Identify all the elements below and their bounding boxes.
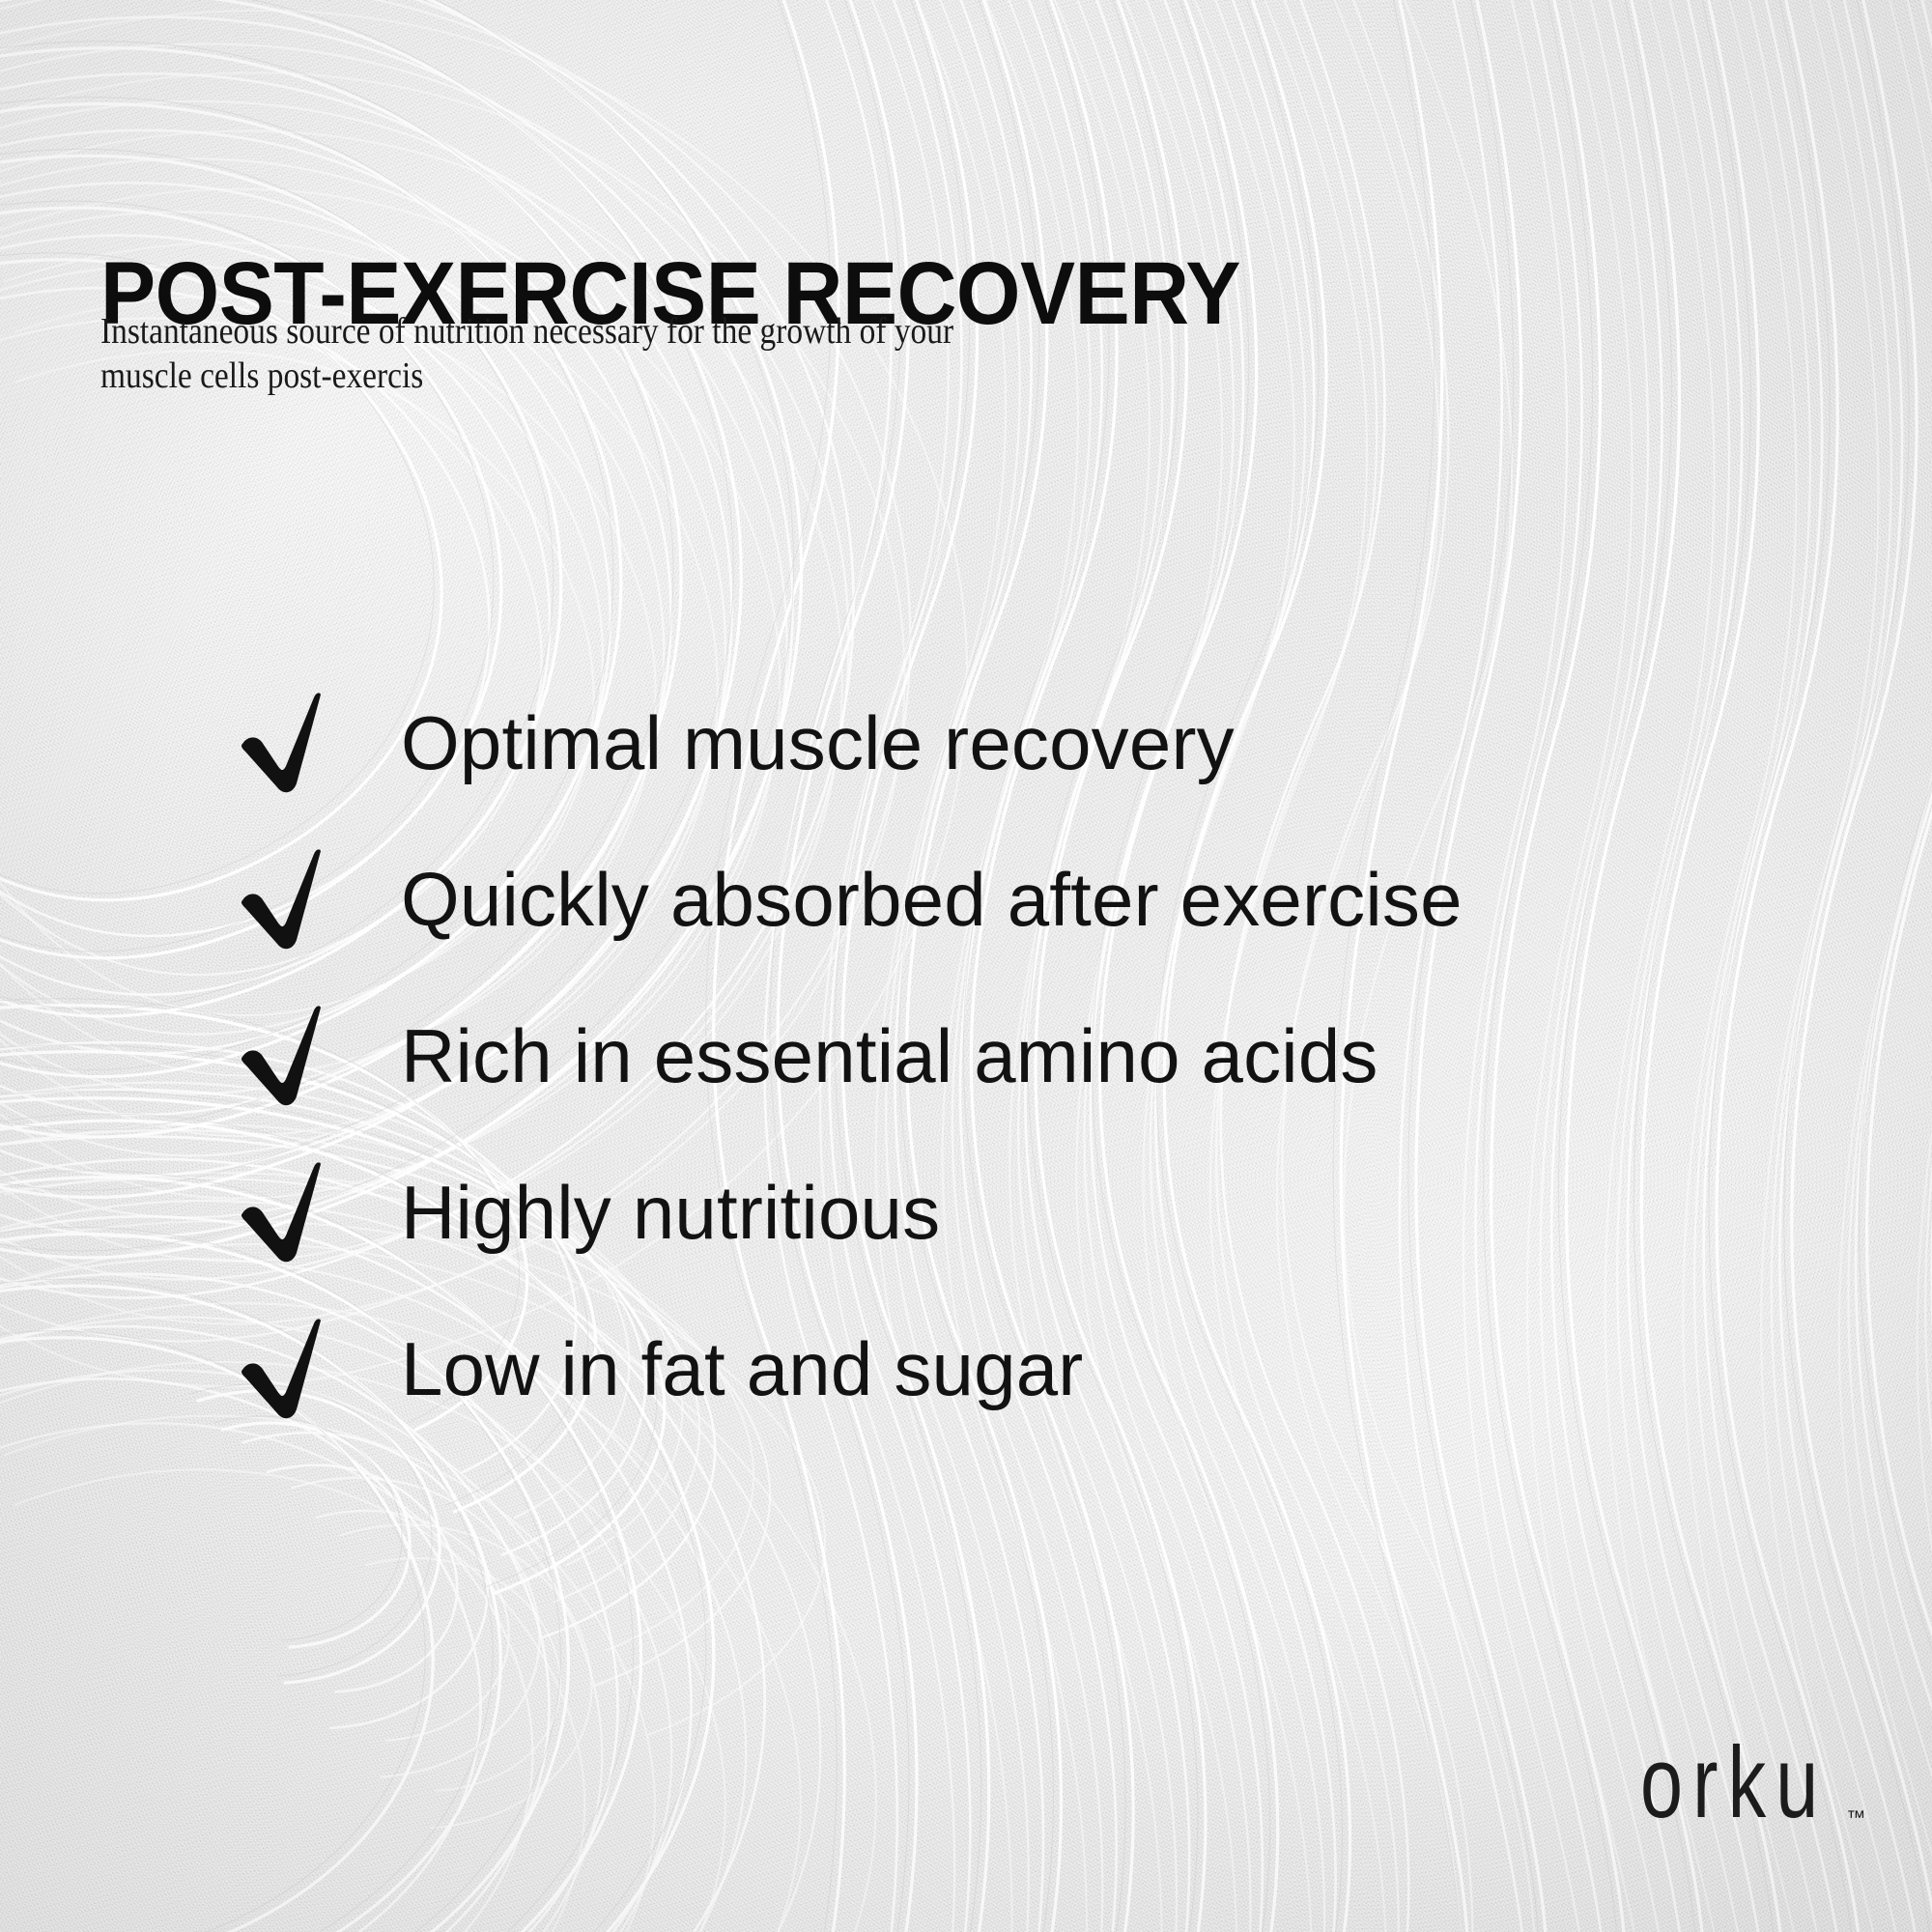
list-item: Highly nutritious: [0, 1157, 1932, 1314]
brand-logo-wordmark: orku: [1640, 1732, 1828, 1833]
list-item-label: Highly nutritious: [401, 1155, 940, 1269]
list-item: Rich in essential amino acids: [0, 1001, 1932, 1157]
check-mark-icon: [235, 1157, 324, 1273]
check-mark-icon: [235, 1314, 324, 1430]
check-mark-icon: [235, 1001, 324, 1117]
brand-logo: orku ™: [1640, 1750, 1865, 1833]
list-item: Low in fat and sugar: [0, 1314, 1932, 1470]
benefits-list: Optimal muscle recovery Quickly absorbed…: [0, 688, 1932, 1470]
page-subtitle-line-2: muscle cells post-exercis: [100, 354, 1103, 398]
list-item-label: Low in fat and sugar: [401, 1312, 1083, 1426]
list-item: Quickly absorbed after exercise: [0, 844, 1932, 1001]
check-mark-icon: [235, 844, 324, 960]
page-subtitle-line-1: Instantaneous source of nutrition necess…: [100, 309, 1103, 354]
list-item-label: Optimal muscle recovery: [401, 686, 1235, 800]
trademark-symbol: ™: [1846, 1808, 1865, 1828]
poster-content: POST-EXERCISE RECOVERY Instantaneous sou…: [0, 0, 1932, 1932]
check-mark-icon: [235, 688, 324, 804]
list-item-label: Rich in essential amino acids: [401, 999, 1378, 1113]
list-item: Optimal muscle recovery: [0, 688, 1932, 844]
page-subtitle: Instantaneous source of nutrition necess…: [100, 309, 1103, 399]
list-item-label: Quickly absorbed after exercise: [401, 842, 1463, 956]
poster-canvas: POST-EXERCISE RECOVERY Instantaneous sou…: [0, 0, 1932, 1932]
